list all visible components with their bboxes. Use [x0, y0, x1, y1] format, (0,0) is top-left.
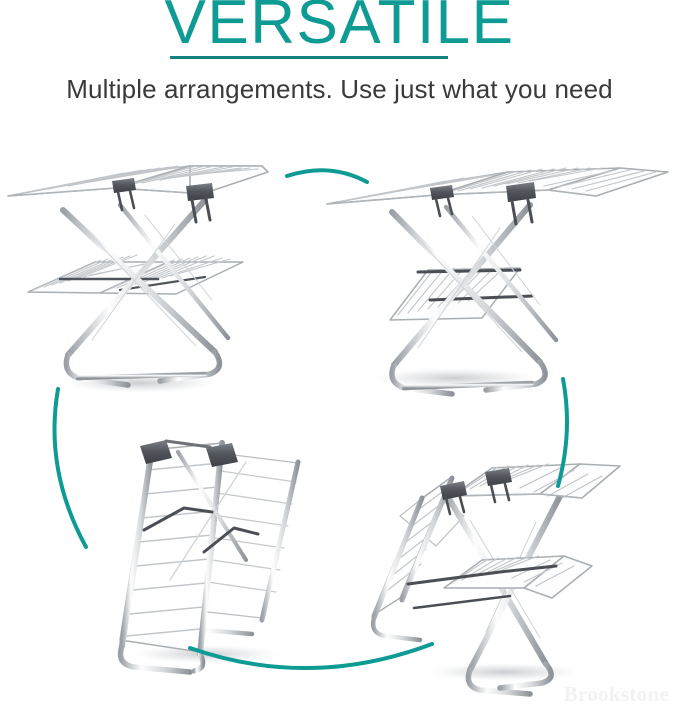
rack-bottom-left	[120, 440, 298, 672]
rack-bottom-right	[372, 464, 620, 694]
arc-top-icon	[287, 170, 367, 182]
arc-left-icon	[55, 389, 87, 547]
brand-watermark: Brookstone	[564, 682, 669, 706]
product-illustration-layer	[0, 0, 679, 711]
rack-top-left	[8, 166, 268, 385]
rack-top-right	[327, 168, 668, 394]
product-marketing-image: VERSATILE Multiple arrangements. Use jus…	[0, 0, 679, 711]
